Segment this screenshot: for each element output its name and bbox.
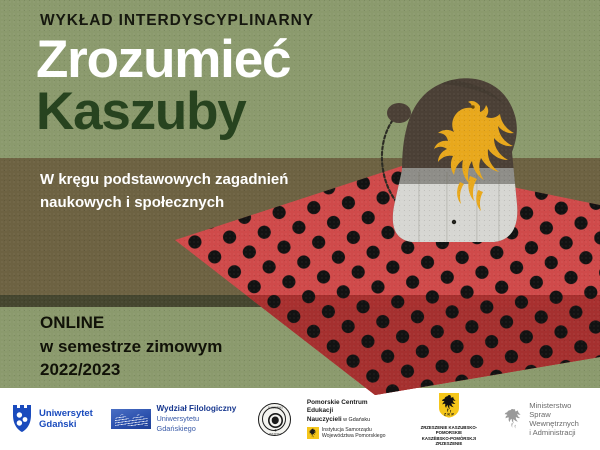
wf-line2: Uniwersytetu Gdańskiego [156,414,237,434]
zkp-line1: ZRZESZENIE KASZUBSKO-POMORSKIE [409,425,489,435]
ug-line1: Uniwersytet [39,408,93,420]
mswia-line1: Ministerstwo [529,401,600,410]
logo-wydzial-filologiczny: Wydział Filologiczny Uniwersytetu Gdańsk… [111,404,238,434]
mswia-line3: i Administracji [529,428,600,437]
wf-line1: Wydział Filologiczny [156,404,237,414]
poster-lead: W kręgu podstawowych zagadnień naukowych… [40,168,288,214]
griffin-glyph [308,428,317,438]
mswia-line2: Spraw Wewnętrznych [529,410,600,428]
ik-seal-glyph: KASZUBSKI INSTYTUT [259,404,291,436]
pcen-line2: Nauczycieli [307,416,342,423]
logo-instytut-kaszubski: KASZUBSKI INSTYTUT [258,403,291,436]
poster-title-line1: Zrozumieć [36,34,290,86]
schedule-mode: ONLINE [40,311,222,335]
hat-body [372,72,572,252]
wf-mark-icon [111,409,152,429]
schedule-semester: w semestrze zimowym [40,335,222,359]
ik-seal-icon: KASZUBSKI INSTYTUT [258,403,291,436]
pcen-line1: Pomorskie Centrum Edukacji [307,399,393,416]
poster-title-line2: Kaszuby [36,86,246,138]
ug-line2: Gdański [39,419,93,431]
wf-wordmark: Wydział Filologiczny Uniwersytetu Gdańsk… [156,404,237,434]
poster-schedule: ONLINE w semestrze zimowym 2022/2023 [40,311,222,382]
poster-lead-line2: naukowych i społecznych [40,191,288,214]
kashubian-hat [372,72,572,252]
pcen-authority-text: Instytucja Samorządu Województwa Pomorsk… [322,427,386,439]
pcen-line2-wrap: Nauczycieli w Gdańsku [307,416,393,424]
logo-uniwersytet-gdanski: Uniwersytet Gdański [12,404,93,434]
ug-wordmark: Uniwersytet Gdański [39,408,93,431]
pcen-sub2: Województwa Pomorskiego [322,433,386,439]
hat-button [452,220,456,224]
svg-text:INSTYTUT: INSTYTUT [269,433,282,436]
polish-eagle-icon [503,406,524,432]
svg-text:Z K P: Z K P [444,411,455,416]
pomerania-griffin-square-icon [307,427,319,439]
pcen-wordmark: Pomorskie Centrum Edukacji Nauczycieli w… [307,399,393,440]
footer-logo-strip: Uniwersytet Gdański Wydział Filologiczny… [0,388,600,450]
svg-text:KASZUBSKI: KASZUBSKI [268,406,283,409]
zkp-line2: KASZËBSKO-POMÒRSKJI ZRZESZENIE [409,436,489,446]
mswia-wordmark: Ministerstwo Spraw Wewnętrznych i Admini… [529,401,600,438]
ug-crest-icon [12,404,34,434]
poster-canvas: WYKŁAD INTERDYSCYPLINARNY Zrozumieć Kasz… [0,0,600,450]
logo-zrzeszenie-kaszubsko-pomorskie: Z K P ZRZESZENIE KASZUBSKO-POMORSKIE KAS… [409,392,489,446]
zkp-text: ZRZESZENIE KASZUBSKO-POMORSKIE KASZËBSKO… [409,425,489,446]
logo-ministerstwo-spraw-wewnetrznych: Ministerstwo Spraw Wewnętrznych i Admini… [503,401,600,438]
pcen-authority-row: Instytucja Samorządu Województwa Pomorsk… [307,427,393,439]
poster-lead-line1: W kręgu podstawowych zagadnień [40,168,288,191]
pcen-line2-suffix: w Gdańsku [342,417,370,423]
schedule-years: 2022/2023 [40,358,222,382]
zkp-griffin-shield-icon: Z K P [438,392,460,418]
logo-pomorskie-centrum-edukacji-nauczycieli: Pomorskie Centrum Edukacji Nauczycieli w… [307,399,393,440]
poster-kicker: WYKŁAD INTERDYSCYPLINARNY [40,12,314,30]
zkp-wordmark: Z K P ZRZESZENIE KASZUBSKO-POMORSKIE KAS… [409,392,489,446]
